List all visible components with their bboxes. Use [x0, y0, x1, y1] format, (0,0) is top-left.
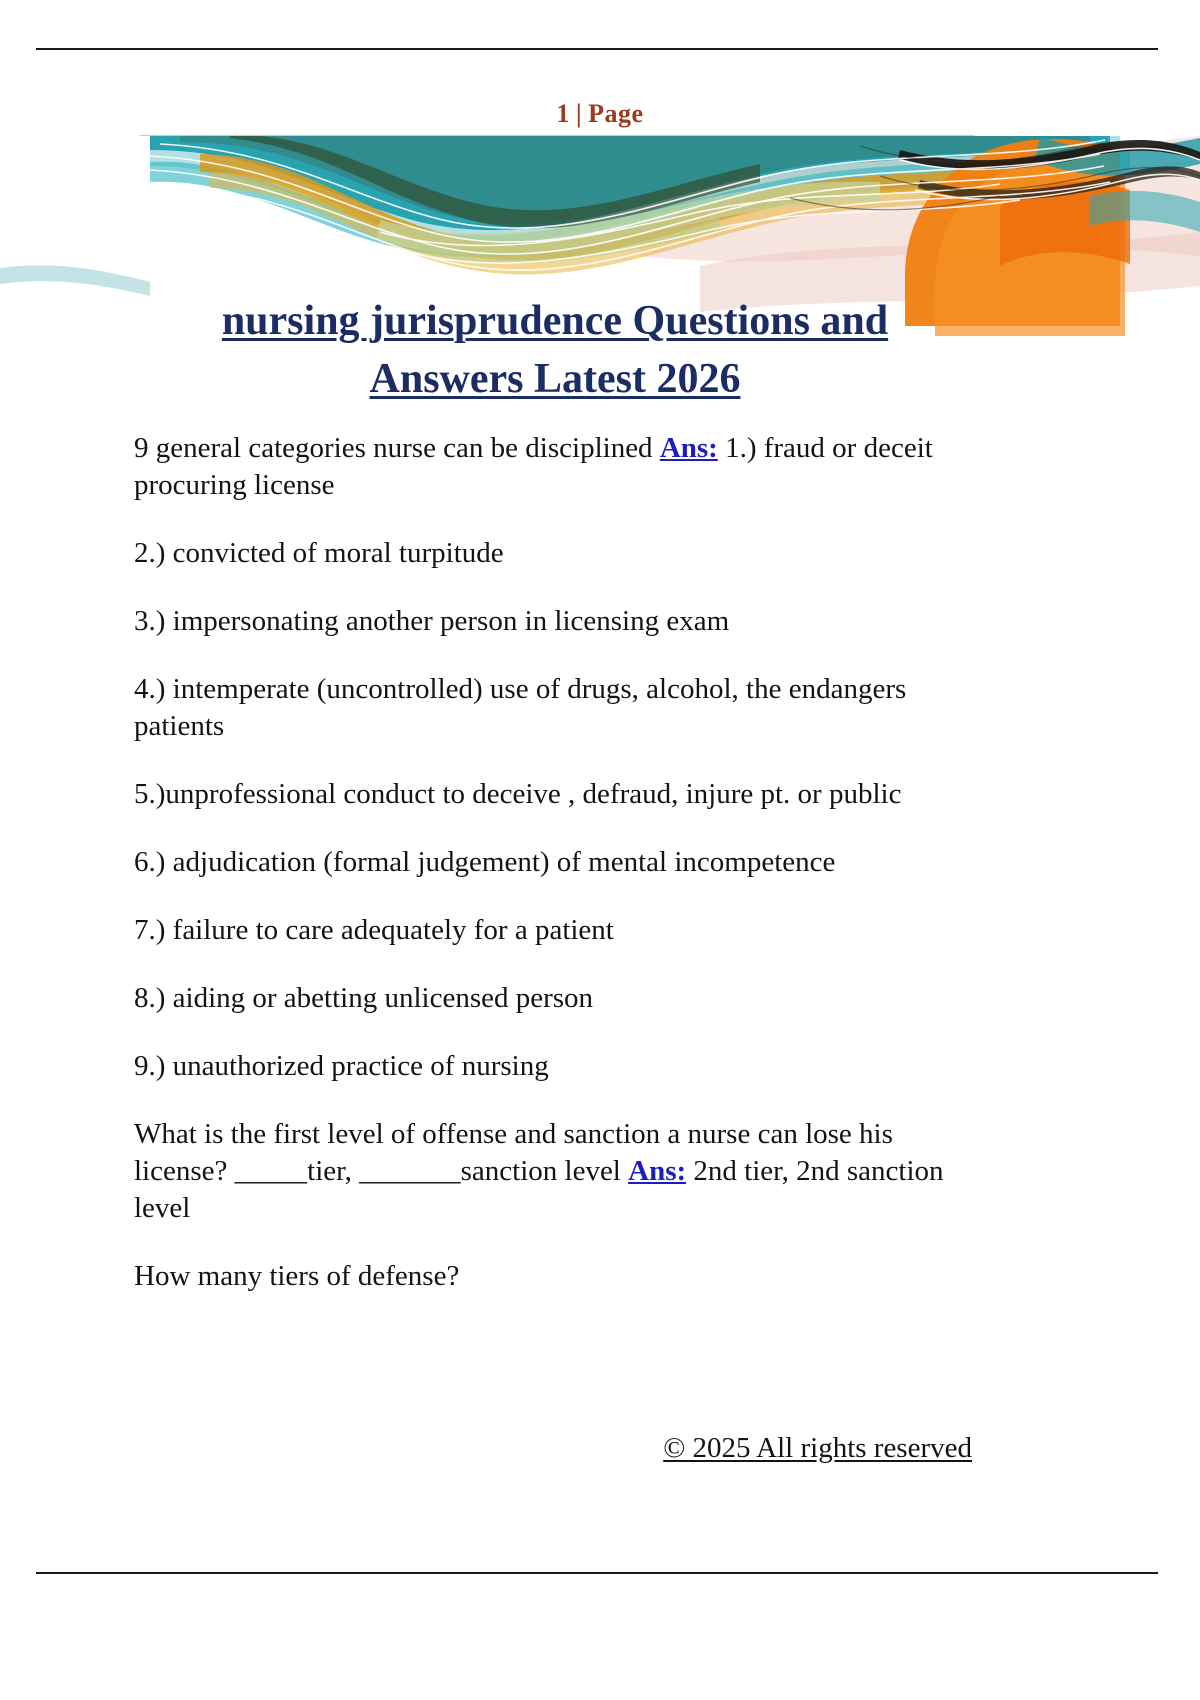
- paragraph-question-defense: How many tiers of defense?: [134, 1258, 979, 1295]
- paragraph-item-9: 9.) unauthorized practice of nursing: [134, 1048, 979, 1085]
- answer-marker: Ans:: [628, 1155, 686, 1187]
- copyright-text: © 2025 All rights reserved: [663, 1432, 972, 1464]
- document-page: 1|Page: [0, 0, 1200, 1700]
- document-body: 9 general categories nurse can be discip…: [134, 430, 979, 1295]
- title-line-2: Answers Latest 2026: [370, 356, 741, 402]
- paragraph-item-4: 4.) intemperate (uncontrolled) use of dr…: [134, 671, 979, 745]
- top-frame-rule: [36, 48, 1158, 50]
- page-header-label: Page: [588, 99, 643, 128]
- intro-prefix: 9 general categories nurse can be discip…: [134, 432, 660, 464]
- paragraph-item-6: 6.) adjudication (formal judgement) of m…: [134, 844, 979, 881]
- page-number-header: 1|Page: [0, 99, 1200, 129]
- document-title: nursing jurisprudence Questions and Answ…: [150, 292, 960, 408]
- copyright-footer: © 2025 All rights reserved: [0, 1432, 1200, 1465]
- title-line-1: nursing jurisprudence Questions and: [222, 298, 888, 344]
- paragraph-question-tier: What is the first level of offense and s…: [134, 1116, 979, 1227]
- answer-marker: Ans:: [660, 432, 718, 464]
- page-header-separator: |: [570, 99, 588, 128]
- paragraph-item-5: 5.)unprofessional conduct to deceive , d…: [134, 776, 979, 813]
- paragraph-item-3: 3.) impersonating another person in lice…: [134, 603, 979, 640]
- bottom-frame-rule: [36, 1572, 1158, 1574]
- paragraph-item-8: 8.) aiding or abetting unlicensed person: [134, 980, 979, 1017]
- paragraph-item-7: 7.) failure to care adequately for a pat…: [134, 912, 979, 949]
- paragraph-item-2: 2.) convicted of moral turpitude: [134, 535, 979, 572]
- page-number: 1: [556, 99, 570, 128]
- paragraph-intro: 9 general categories nurse can be discip…: [134, 430, 979, 504]
